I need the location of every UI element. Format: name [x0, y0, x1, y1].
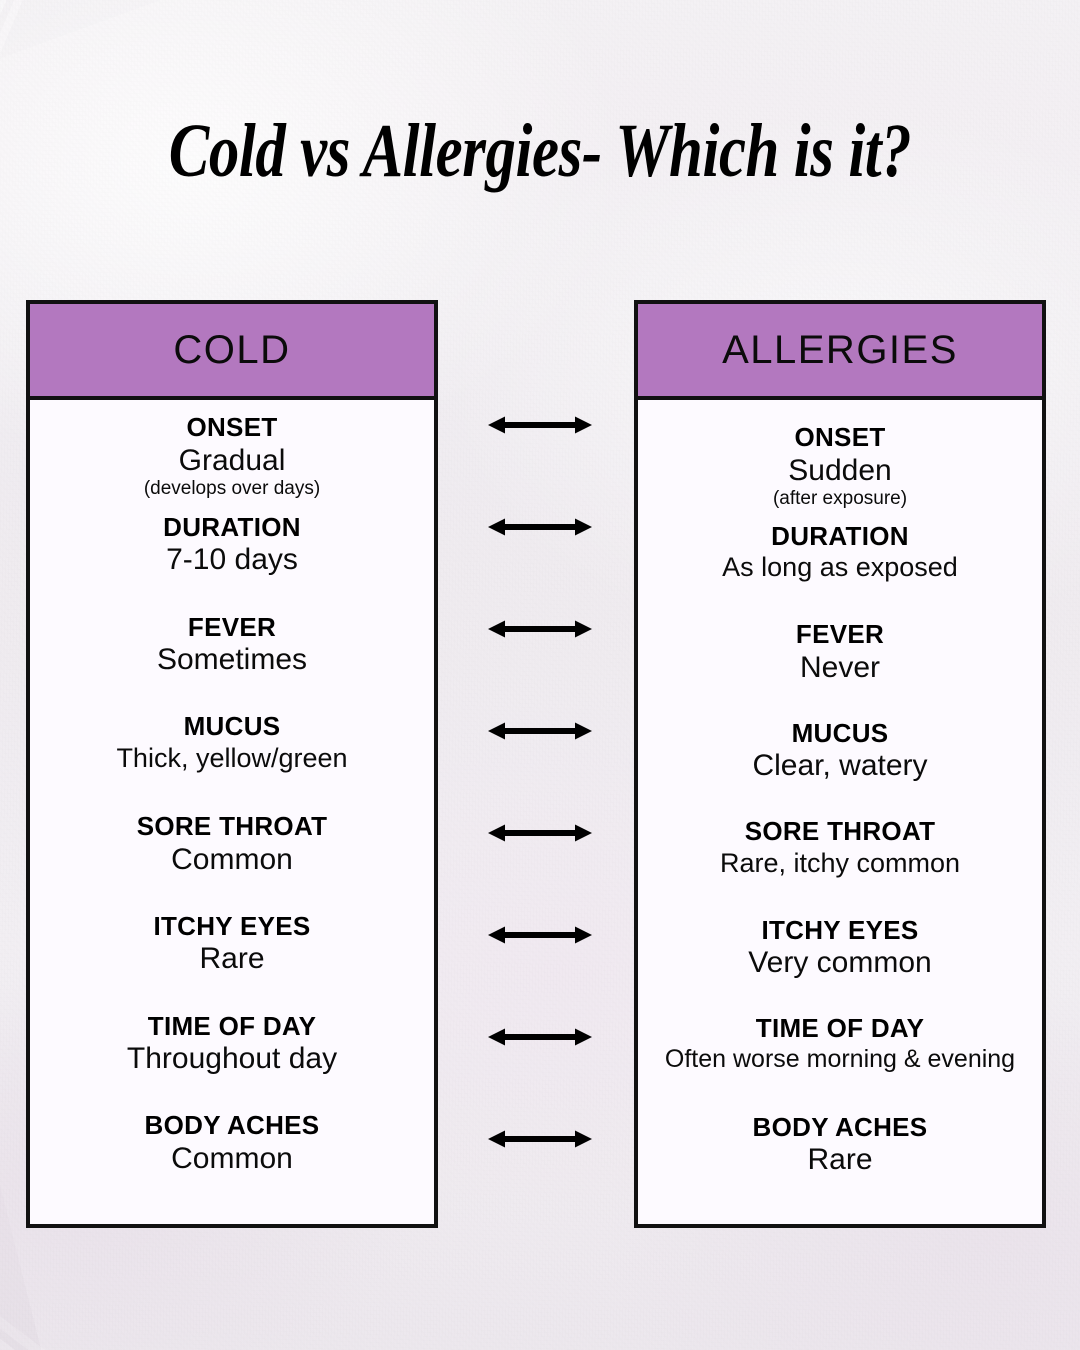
table-row: DURATION 7-10 days — [36, 512, 428, 612]
row-value: Very common — [748, 945, 931, 981]
arrow-cell — [446, 718, 634, 820]
table-row: ITCHY EYES Rare — [36, 911, 428, 1011]
row-value: Rare — [807, 1142, 872, 1178]
row-label: ONSET — [794, 422, 885, 453]
card-body-allergies: ONSET Sudden (after exposure) DURATION A… — [638, 400, 1042, 1224]
comparison-card-allergies: ALLERGIES ONSET Sudden (after exposure) … — [634, 300, 1046, 1228]
row-label: BODY ACHES — [145, 1110, 320, 1141]
row-value: Clear, watery — [752, 748, 927, 784]
table-row: BODY ACHES Rare — [644, 1112, 1036, 1211]
row-label: TIME OF DAY — [148, 1011, 316, 1042]
table-row: ONSET Sudden (after exposure) — [644, 422, 1036, 521]
table-row: FEVER Never — [644, 619, 1036, 718]
table-row: ONSET Gradual (develops over days) — [36, 412, 428, 512]
row-label: FEVER — [796, 619, 884, 650]
comparison-card-cold: COLD ONSET Gradual (develops over days) … — [26, 300, 438, 1228]
row-label: SORE THROAT — [137, 811, 328, 842]
table-row: MUCUS Thick, yellow/green — [36, 711, 428, 811]
double-headed-arrow-icon — [488, 820, 592, 846]
row-label: ITCHY EYES — [153, 911, 310, 942]
arrow-cell — [446, 820, 634, 922]
arrow-cell — [446, 1024, 634, 1126]
row-label: SORE THROAT — [745, 816, 936, 847]
page-title: Cold vs Allergies- Which is it? — [108, 113, 972, 189]
row-label: BODY ACHES — [753, 1112, 928, 1143]
card-body-cold: ONSET Gradual (develops over days) DURAT… — [30, 400, 434, 1224]
double-headed-arrow-icon — [488, 514, 592, 540]
row-label: MUCUS — [184, 711, 281, 742]
card-header-allergies: ALLERGIES — [638, 304, 1042, 400]
table-row: TIME OF DAY Throughout day — [36, 1011, 428, 1111]
double-headed-arrow-icon — [488, 718, 592, 744]
table-row: MUCUS Clear, watery — [644, 718, 1036, 817]
arrow-cell — [446, 616, 634, 718]
row-label: ONSET — [186, 412, 277, 443]
row-value: 7-10 days — [166, 542, 298, 578]
table-row: SORE THROAT Rare, itchy common — [644, 816, 1036, 915]
table-row: TIME OF DAY Often worse morning & evenin… — [644, 1013, 1036, 1112]
double-headed-arrow-icon — [488, 1126, 592, 1152]
row-note: (after exposure) — [773, 488, 907, 510]
arrow-cell — [446, 1126, 634, 1228]
row-value: As long as exposed — [722, 551, 958, 583]
row-value: Rare, itchy common — [720, 847, 960, 879]
row-label: DURATION — [163, 512, 301, 543]
connector-arrows — [446, 300, 634, 1228]
row-label: DURATION — [771, 521, 909, 552]
double-headed-arrow-icon — [488, 616, 592, 642]
row-value: Sometimes — [157, 642, 307, 678]
arrow-cell — [446, 412, 634, 514]
arrow-cell — [446, 514, 634, 616]
row-value: Sudden — [788, 453, 891, 489]
row-value: Gradual — [179, 443, 286, 479]
row-value: Common — [171, 1141, 293, 1177]
row-label: FEVER — [188, 612, 276, 643]
row-label: ITCHY EYES — [761, 915, 918, 946]
double-headed-arrow-icon — [488, 922, 592, 948]
row-value: Throughout day — [127, 1041, 337, 1077]
table-row: SORE THROAT Common — [36, 811, 428, 911]
table-row: ITCHY EYES Very common — [644, 915, 1036, 1014]
table-row: BODY ACHES Common — [36, 1110, 428, 1210]
table-row: DURATION As long as exposed — [644, 521, 1036, 620]
double-headed-arrow-icon — [488, 412, 592, 438]
row-value: Rare — [199, 941, 264, 977]
row-value: Thick, yellow/green — [116, 742, 347, 774]
row-value: Often worse morning & evening — [665, 1044, 1015, 1074]
row-value: Common — [171, 842, 293, 878]
row-label: TIME OF DAY — [756, 1013, 924, 1044]
table-row: FEVER Sometimes — [36, 612, 428, 712]
row-value: Never — [800, 650, 880, 686]
double-headed-arrow-icon — [488, 1024, 592, 1050]
row-note: (develops over days) — [144, 478, 320, 500]
card-header-cold: COLD — [30, 304, 434, 400]
row-label: MUCUS — [792, 718, 889, 749]
arrow-cell — [446, 922, 634, 1024]
